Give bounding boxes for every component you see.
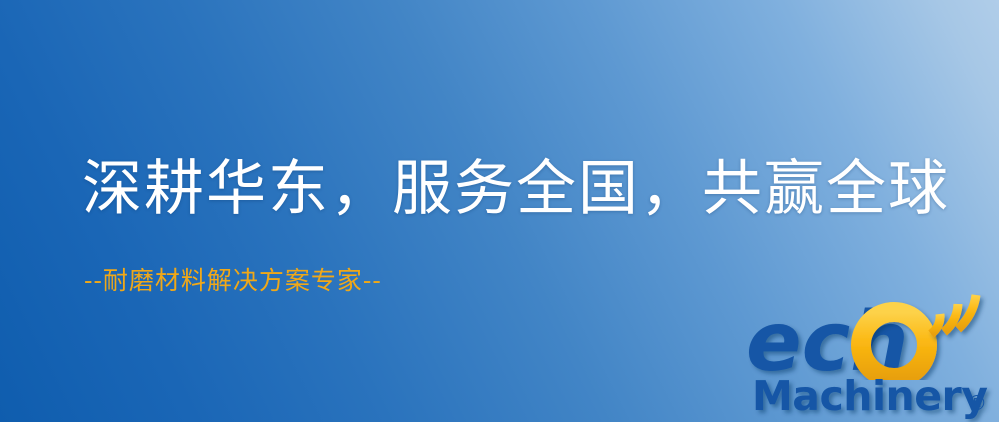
svg-text:Machinery: Machinery (752, 372, 987, 420)
page-subtitle: --耐磨材料解决方案专家-- (84, 266, 382, 296)
logo-subtext: Machinery ® (752, 372, 999, 422)
echo-wave-icon (931, 295, 976, 334)
logo-wordmark: ech (748, 292, 999, 380)
company-logo: ech Machinery ® (748, 292, 999, 422)
svg-text:®: ® (967, 391, 987, 415)
hero-banner: 深耕华东，服务全国，共赢全球 --耐磨材料解决方案专家-- (0, 0, 999, 422)
page-title: 深耕华东，服务全国，共赢全球 (82, 152, 950, 226)
